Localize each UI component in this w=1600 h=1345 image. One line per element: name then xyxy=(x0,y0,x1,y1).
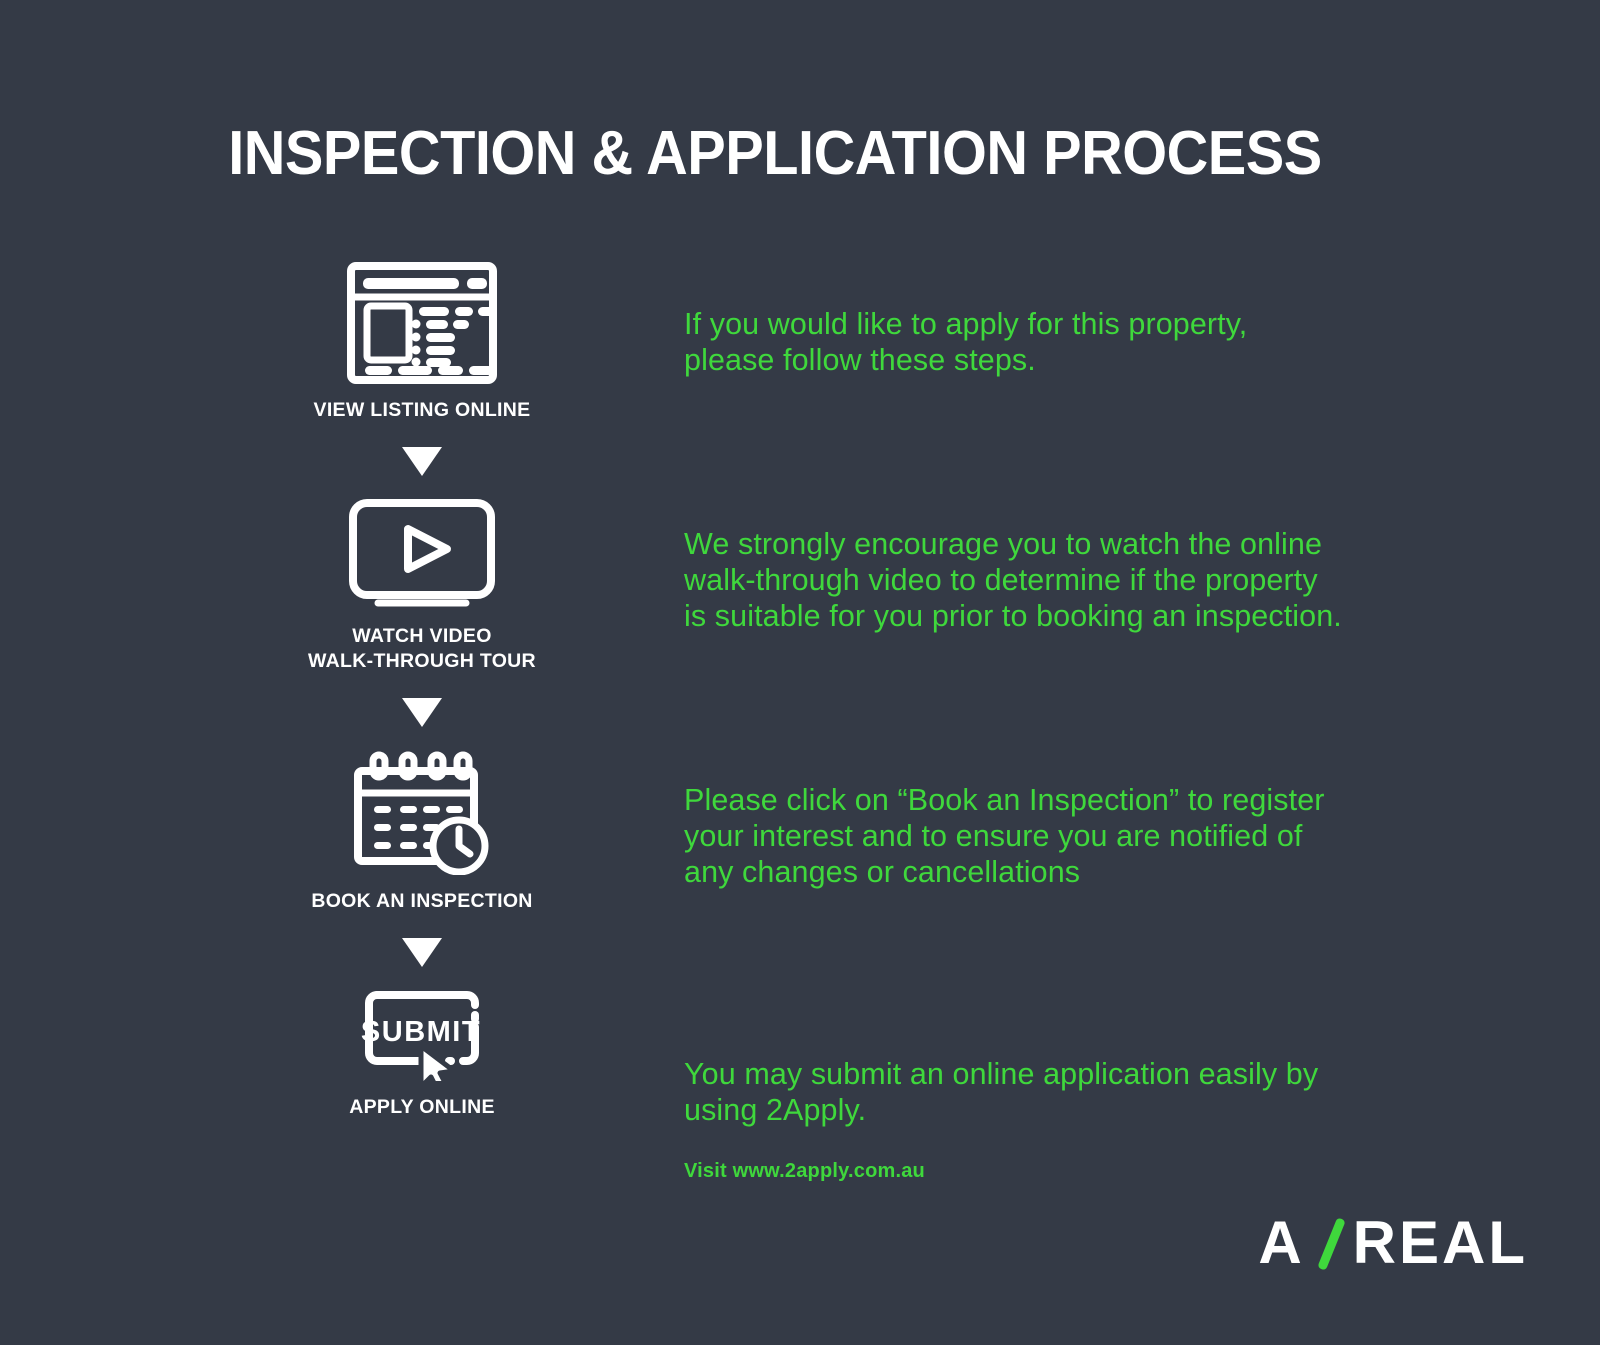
step-label: VIEW LISTING ONLINE xyxy=(276,398,568,423)
step-apply-online[interactable]: SUBMIT APPLY ONLINE xyxy=(276,989,568,1120)
step-watch-video-walkthrough[interactable]: WATCH VIDEO WALK-THROUGH TOUR xyxy=(276,498,568,674)
brand-logo: A REAL xyxy=(1258,1208,1528,1277)
paragraph-view-listing: If you would like to apply for this prop… xyxy=(684,306,1247,378)
browser-listing-icon xyxy=(276,262,568,384)
submit-icon-label: SUBMIT xyxy=(361,1016,481,1048)
calendar-clock-icon xyxy=(276,749,568,875)
submit-button-cursor-icon: SUBMIT xyxy=(276,989,568,1081)
paragraph-watch-video: We strongly encourage you to watch the o… xyxy=(684,526,1342,634)
step-view-listing-online[interactable]: VIEW LISTING ONLINE xyxy=(276,262,568,423)
page-title: INSPECTION & APPLICATION PROCESS xyxy=(54,118,1496,189)
step-book-an-inspection[interactable]: BOOK AN INSPECTION xyxy=(276,749,568,914)
logo-letter-a: A xyxy=(1258,1208,1304,1277)
paragraph-book-inspection: Please click on “Book an Inspection” to … xyxy=(684,782,1325,890)
step-label: WATCH VIDEO WALK-THROUGH TOUR xyxy=(276,624,568,674)
arrow-down-icon xyxy=(276,938,568,967)
infographic-poster: INSPECTION & APPLICATION PROCESS xyxy=(0,0,1600,1345)
step-label: BOOK AN INSPECTION xyxy=(276,889,568,914)
step-label: APPLY ONLINE xyxy=(276,1095,568,1120)
paragraph-apply-online: You may submit an online application eas… xyxy=(684,1056,1318,1128)
arrow-down-icon xyxy=(276,698,568,727)
forward-slash-icon xyxy=(1315,1215,1349,1271)
logo-word-real: REAL xyxy=(1353,1208,1528,1277)
arrow-down-icon xyxy=(276,447,568,476)
step-flow-column: VIEW LISTING ONLINE WATCH VIDEO WALK-THR… xyxy=(276,262,568,1120)
visit-url-text[interactable]: Visit www.2apply.com.au xyxy=(684,1160,925,1183)
video-play-icon xyxy=(276,498,568,610)
